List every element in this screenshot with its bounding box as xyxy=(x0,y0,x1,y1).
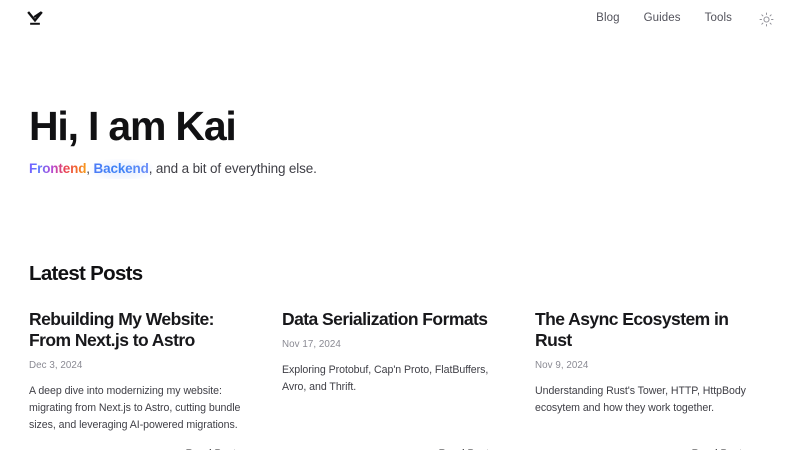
post-excerpt: Exploring Protobuf, Cap'n Proto, FlatBuf… xyxy=(282,362,511,396)
main-nav: Blog Guides Tools xyxy=(596,11,774,27)
post-excerpt: Understanding Rust's Tower, HTTP, HttpBo… xyxy=(535,383,764,417)
page-root: Blog Guides Tools xyxy=(0,0,800,450)
hero-section: Hi, I am Kai Frontend, Backend, and a bi… xyxy=(29,104,769,178)
post-date: Nov 17, 2024 xyxy=(282,339,511,351)
section-title-latest-posts: Latest Posts xyxy=(29,263,771,286)
post-card[interactable]: Data Serialization Formats Nov 17, 2024 … xyxy=(282,309,511,450)
post-title: Rebuilding My Website: From Next.js to A… xyxy=(29,309,258,352)
read-post-link[interactable]: Read Post xyxy=(535,434,764,450)
hero-highlight-backend: Backend xyxy=(94,161,149,176)
sun-icon xyxy=(759,12,774,27)
site-header: Blog Guides Tools xyxy=(0,0,800,38)
post-date: Dec 3, 2024 xyxy=(29,360,258,372)
post-card[interactable]: Rebuilding My Website: From Next.js to A… xyxy=(29,309,258,450)
hero-highlight-frontend: Frontend xyxy=(29,161,86,176)
theme-toggle-button[interactable] xyxy=(758,11,774,27)
hero-subtitle: Frontend, Backend, and a bit of everythi… xyxy=(29,160,769,178)
site-logo[interactable] xyxy=(26,10,44,28)
nav-link-guides[interactable]: Guides xyxy=(644,13,681,25)
post-date: Nov 9, 2024 xyxy=(535,360,764,372)
kai-logo-icon xyxy=(26,10,44,28)
hero-subtitle-separator: , xyxy=(86,161,93,176)
hero-subtitle-rest: , and a bit of everything else. xyxy=(149,161,317,176)
post-title: Data Serialization Formats xyxy=(282,309,511,330)
posts-grid: Rebuilding My Website: From Next.js to A… xyxy=(29,309,771,450)
latest-posts-section: Latest Posts Rebuilding My Website: From… xyxy=(29,263,771,450)
post-excerpt: A deep dive into modernizing my website:… xyxy=(29,383,258,434)
read-post-link[interactable]: Read Post xyxy=(282,434,511,450)
nav-link-tools[interactable]: Tools xyxy=(705,13,732,25)
post-card[interactable]: The Async Ecosystem in Rust Nov 9, 2024 … xyxy=(535,309,764,450)
nav-link-blog[interactable]: Blog xyxy=(596,13,619,25)
page-title: Hi, I am Kai xyxy=(29,104,769,148)
read-post-link[interactable]: Read Post xyxy=(29,434,258,450)
post-title: The Async Ecosystem in Rust xyxy=(535,309,764,352)
